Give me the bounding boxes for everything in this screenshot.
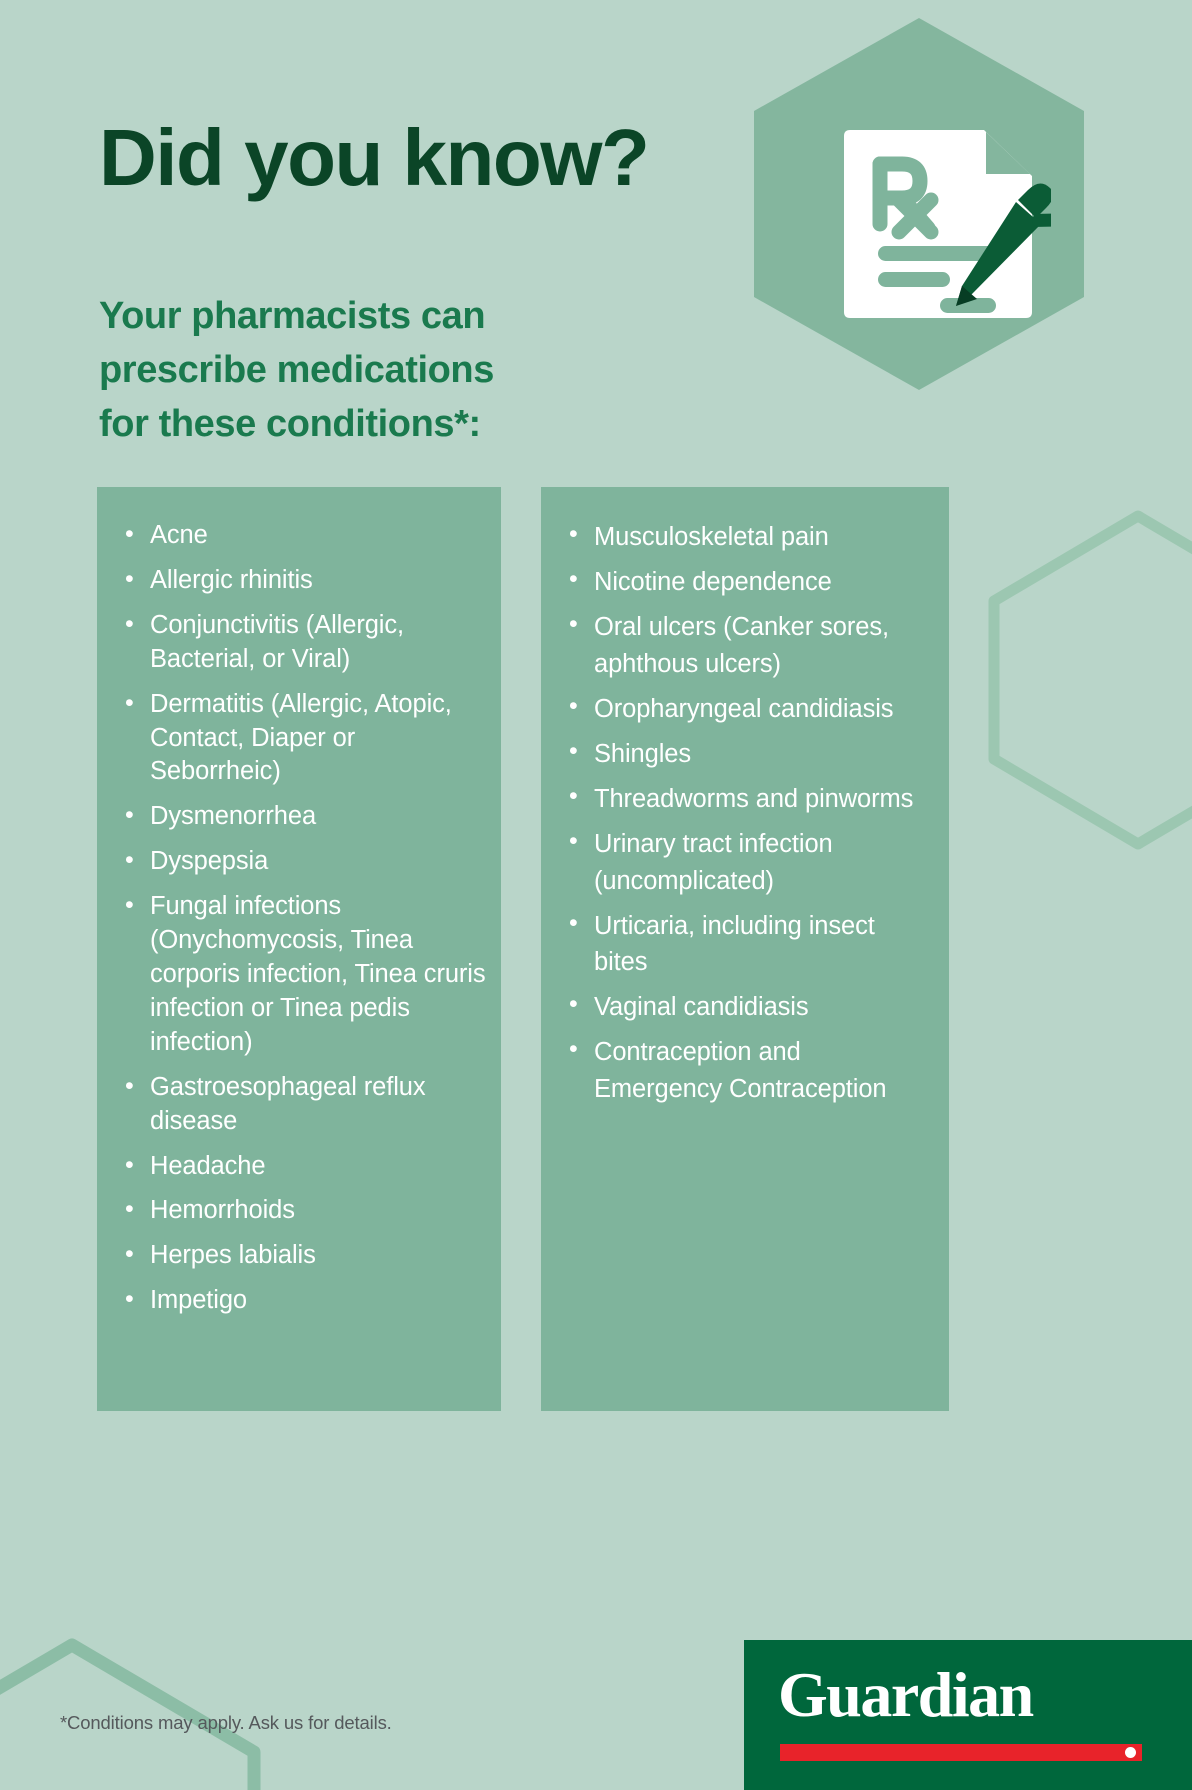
guardian-logo-red-bar xyxy=(780,1744,1142,1761)
conditions-panel-left: AcneAllergic rhinitisConjunctivitis (All… xyxy=(97,487,501,1411)
condition-list-item: Dermatitis (Allergic, Atopic, Contact, D… xyxy=(123,688,487,790)
guardian-logo: Guardian xyxy=(744,1640,1192,1790)
condition-list-item: Acne xyxy=(123,519,487,553)
subhead-line-2: prescribe medications xyxy=(99,344,494,398)
conditions-list-left: AcneAllergic rhinitisConjunctivitis (All… xyxy=(97,487,501,1318)
condition-list-item: Shingles xyxy=(567,736,935,772)
page-headline: Did you know? xyxy=(99,118,648,198)
registered-mark-icon xyxy=(1125,1747,1136,1758)
condition-list-item: Urinary tract infection (uncomplicated) xyxy=(567,826,935,898)
condition-list-item: Oropharyngeal candidiasis xyxy=(567,691,935,727)
condition-list-item: Threadworms and pinworms xyxy=(567,781,935,817)
subhead-line-3: for these conditions*: xyxy=(99,398,494,452)
prescription-document-icon xyxy=(836,120,1051,330)
condition-list-item: Musculoskeletal pain xyxy=(567,519,935,555)
pen-icon xyxy=(956,183,1051,306)
condition-list-item: Vaginal candidiasis xyxy=(567,989,935,1025)
disclaimer-text: *Conditions may apply. Ask us for detail… xyxy=(60,1712,392,1734)
condition-list-item: Impetigo xyxy=(123,1284,487,1318)
condition-list-item: Contraception and Emergency Contraceptio… xyxy=(567,1034,935,1106)
condition-list-item: Conjunctivitis (Allergic, Bacterial, or … xyxy=(123,609,487,677)
page-subheadline: Your pharmacists can prescribe medicatio… xyxy=(99,290,494,452)
condition-list-item: Nicotine dependence xyxy=(567,564,935,600)
guardian-logo-wordmark: Guardian xyxy=(778,1658,1033,1732)
condition-list-item: Herpes labialis xyxy=(123,1239,487,1273)
hexagon-filled-shape xyxy=(754,18,1084,390)
conditions-list-right: Musculoskeletal painNicotine dependenceO… xyxy=(541,487,949,1107)
condition-list-item: Gastroesophageal reflux disease xyxy=(123,1071,487,1139)
condition-list-item: Oral ulcers (Canker sores, aphthous ulce… xyxy=(567,609,935,681)
condition-list-item: Dysmenorrhea xyxy=(123,800,487,834)
hexagon-outline-right xyxy=(988,510,1192,850)
subhead-line-1: Your pharmacists can xyxy=(99,290,494,344)
condition-list-item: Dyspepsia xyxy=(123,845,487,879)
condition-list-item: Allergic rhinitis xyxy=(123,564,487,598)
poster-canvas: Did you know? Your pharmacists can presc… xyxy=(0,0,1192,1790)
condition-list-item: Fungal infections (Onychomycosis, Tinea … xyxy=(123,890,487,1060)
condition-list-item: Headache xyxy=(123,1150,487,1184)
condition-list-item: Urticaria, including insect bites xyxy=(567,908,935,980)
condition-list-item: Hemorrhoids xyxy=(123,1194,487,1228)
conditions-panel-right: Musculoskeletal painNicotine dependenceO… xyxy=(541,487,949,1411)
